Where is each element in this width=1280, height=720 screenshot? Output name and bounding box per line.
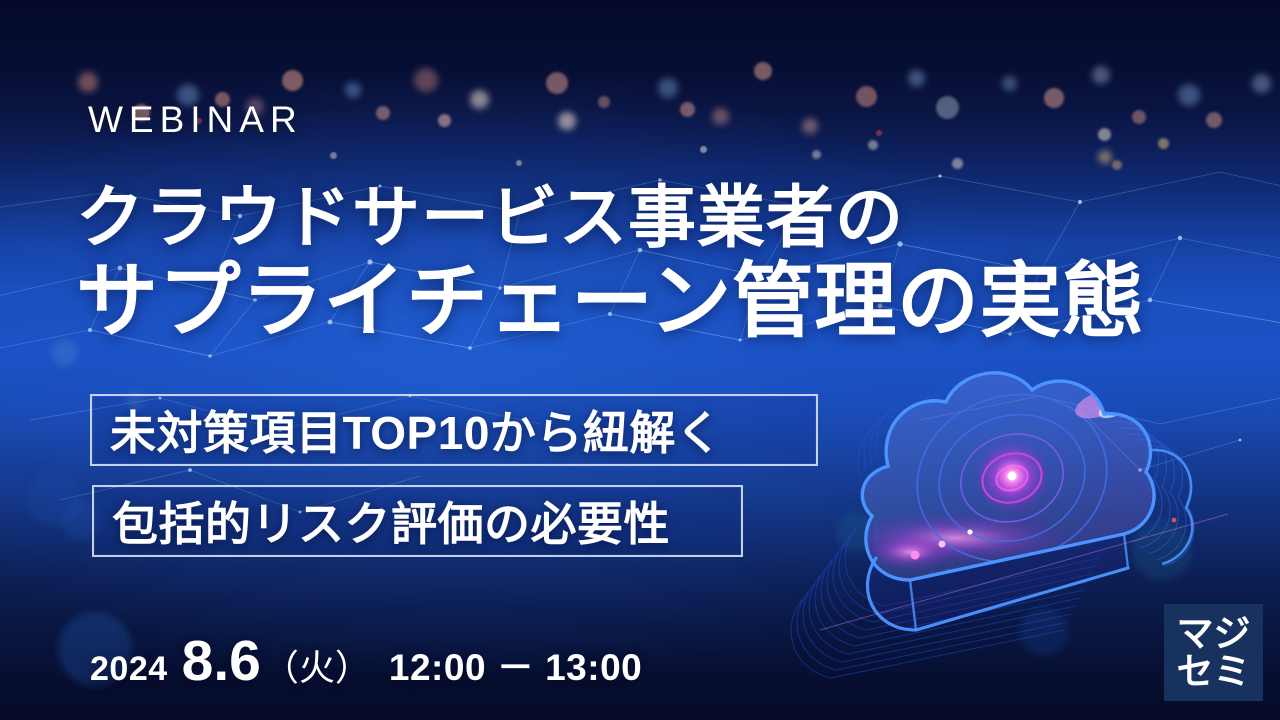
subtitle-text-1: 未対策項目TOP10から紐解く (110, 397, 722, 463)
schedule-dayofweek: （火） (263, 639, 371, 691)
webinar-banner: WEBINAR クラウドサービス事業者の サプライチェーン管理の実態 未対策項目… (0, 0, 1280, 720)
logo-line-1: マジ (1177, 615, 1251, 653)
subtitle-text-2: 包括的リスク評価の必要性 (112, 488, 670, 554)
title-line-1: クラウドサービス事業者の (76, 178, 1196, 258)
subtitle-box-2: 包括的リスク評価の必要性 (92, 485, 743, 557)
schedule-year: 2024 (90, 650, 168, 689)
page-title: クラウドサービス事業者の サプライチェーン管理の実態 (76, 178, 1196, 348)
subtitle-box-1: 未対策項目TOP10から紐解く (90, 394, 818, 466)
title-line-2: サプライチェーン管理の実態 (76, 256, 1196, 348)
schedule-time: 12:00 － 13:00 (389, 637, 642, 691)
schedule-date: 8.6 (182, 628, 261, 694)
schedule-line: 2024 8.6 （火） 12:00 － 13:00 (90, 628, 642, 694)
logo-line-2: セミ (1177, 653, 1251, 691)
majiseminar-logo: マジ セミ (1164, 604, 1263, 701)
webinar-eyebrow-label: WEBINAR (88, 99, 303, 141)
